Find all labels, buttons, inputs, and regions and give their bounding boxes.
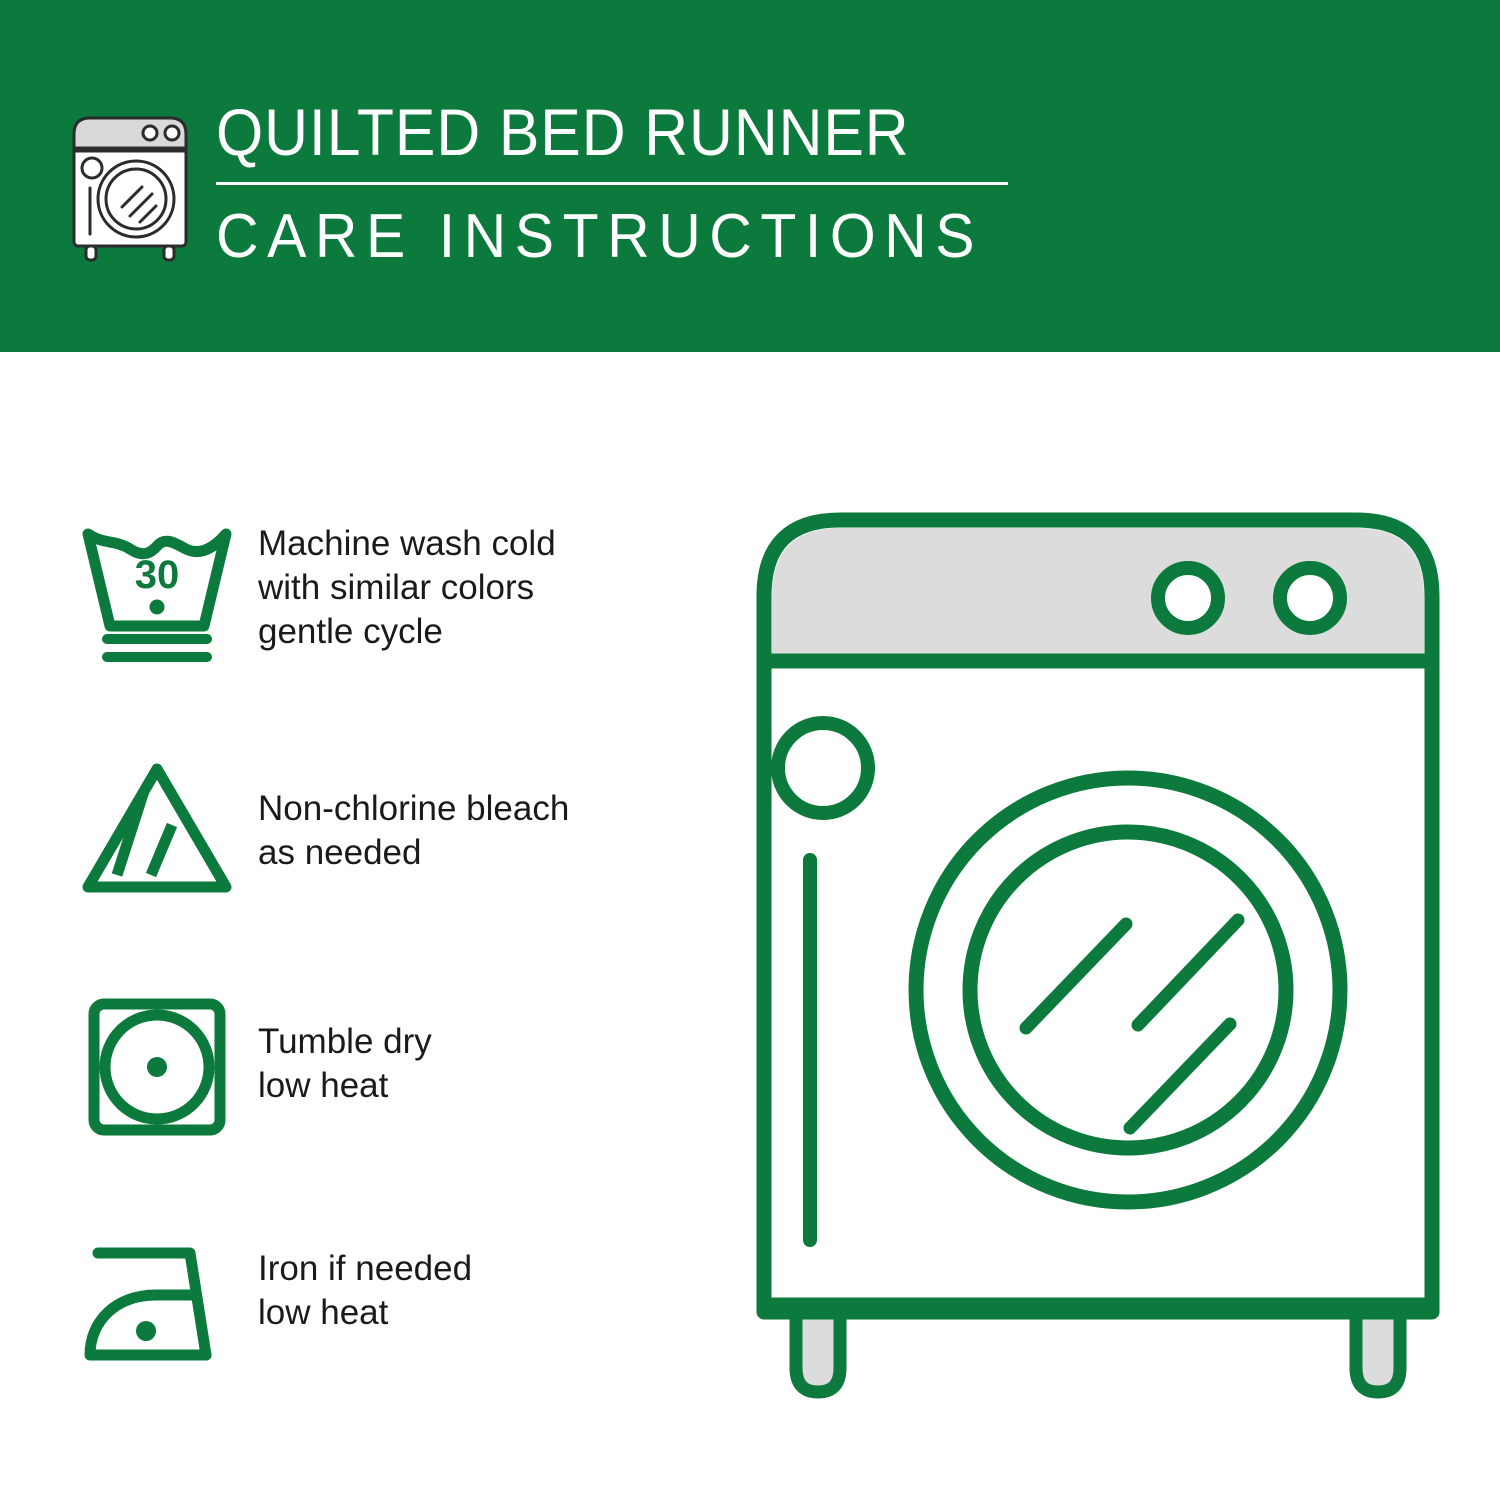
care-label-line: Non-chlorine bleach [258, 787, 569, 831]
washing-machine-illustration [748, 500, 1448, 1420]
care-row-iron: Iron if needed low heat [72, 1215, 672, 1448]
tumble-dry-icon [72, 982, 242, 1132]
care-label-line: gentle cycle [258, 610, 556, 654]
care-instructions-list: 30 Machine wash cold with similar colors… [72, 516, 672, 1448]
care-label-line: Iron if needed [258, 1247, 472, 1291]
page-title: QUILTED BED RUNNER [216, 96, 952, 168]
svg-text:30: 30 [135, 553, 180, 597]
header-divider [216, 182, 1008, 185]
control-knob [1280, 568, 1340, 628]
care-label-line: Machine wash cold [258, 522, 556, 566]
wash-tub-30-icon: 30 [72, 516, 242, 666]
care-label-line: low heat [258, 1064, 432, 1108]
care-label-wash: Machine wash cold with similar colors ge… [258, 516, 556, 654]
care-row-wash: 30 Machine wash cold with similar colors… [72, 516, 672, 749]
care-instructions-page: QUILTED BED RUNNER CARE INSTRUCTIONS 30 [0, 0, 1500, 1500]
care-label-line: Tumble dry [258, 1020, 432, 1064]
bleach-triangle-icon [72, 749, 242, 899]
care-label-line: with similar colors [258, 566, 556, 610]
page-subtitle: CARE INSTRUCTIONS [216, 203, 976, 271]
care-label-line: as needed [258, 831, 569, 875]
care-label-tumble-dry: Tumble dry low heat [258, 982, 432, 1108]
care-label-bleach: Non-chlorine bleach as needed [258, 749, 569, 875]
care-label-iron: Iron if needed low heat [258, 1215, 472, 1335]
iron-icon [72, 1215, 242, 1365]
care-row-bleach: Non-chlorine bleach as needed [72, 749, 672, 982]
control-knob [1158, 568, 1218, 628]
header-text-block: QUILTED BED RUNNER CARE INSTRUCTIONS [216, 96, 1016, 271]
washing-machine-icon [64, 104, 196, 262]
door-inner-ring [970, 832, 1286, 1148]
care-label-line: low heat [258, 1291, 472, 1335]
header-band: QUILTED BED RUNNER CARE INSTRUCTIONS [0, 0, 1500, 352]
care-row-tumble-dry: Tumble dry low heat [72, 982, 672, 1215]
detergent-port-icon [778, 723, 868, 813]
